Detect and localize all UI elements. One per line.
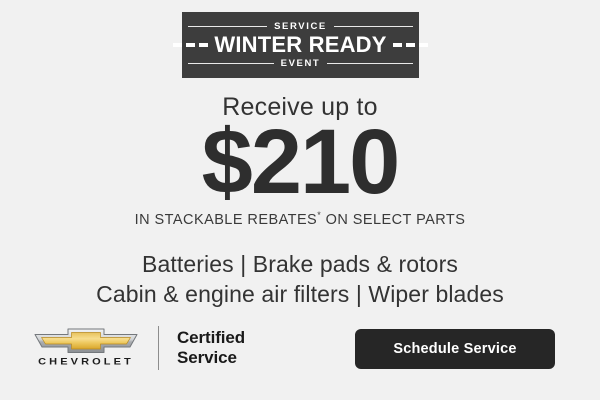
dash-icon (173, 43, 182, 47)
banner-event-label: EVENT (274, 59, 328, 69)
ad-footer: CHEVROLET Certified Service Schedule Ser… (0, 318, 600, 384)
dash-icon (186, 43, 195, 47)
certified-line-2: Service (177, 348, 245, 368)
chevrolet-bowtie-icon (32, 328, 140, 354)
dash-icon (406, 43, 415, 47)
banner-top-row: SERVICE (188, 22, 413, 32)
offer-amount: $210 (0, 116, 600, 208)
certified-line-1: Certified (177, 328, 245, 348)
chevrolet-wordmark: CHEVROLET (38, 358, 134, 367)
banner-title-row: WINTER READY (188, 33, 413, 57)
banner-rule-left (188, 26, 267, 27)
banner-title: WINTER READY (214, 34, 386, 56)
product-line-2: Cabin & engine air filters | Wiper blade… (0, 280, 600, 310)
banner-dashes-right (387, 43, 434, 47)
promo-ad: SERVICE WINTER READY EVENT Receive up to… (0, 0, 600, 400)
banner-bottom-row: EVENT (188, 59, 413, 69)
dash-icon (419, 43, 428, 47)
banner-service-label: SERVICE (267, 22, 334, 32)
dash-icon (199, 43, 208, 47)
banner-rule-right-lower (327, 63, 413, 64)
schedule-service-button[interactable]: Schedule Service (355, 329, 555, 369)
rebate-text: IN STACKABLE REBATES (135, 212, 318, 228)
chevrolet-logo: CHEVROLET (30, 328, 142, 368)
dash-icon (393, 43, 402, 47)
brand-divider (158, 326, 159, 370)
banner-dashes-left (167, 43, 214, 47)
offer-rebate-line: IN STACKABLE REBATES* ON SELECT PARTS (0, 213, 600, 228)
rebate-text-suffix: ON SELECT PARTS (321, 212, 465, 228)
banner-rule-right (334, 26, 413, 27)
chevrolet-certified-service-lockup: CHEVROLET Certified Service (30, 318, 245, 378)
product-line-1: Batteries | Brake pads & rotors (0, 250, 600, 280)
certified-service-label: Certified Service (177, 328, 245, 368)
winter-ready-event-banner: SERVICE WINTER READY EVENT (182, 12, 419, 78)
eligible-products: Batteries | Brake pads & rotors Cabin & … (0, 250, 600, 310)
banner-rule-left-lower (188, 63, 274, 64)
